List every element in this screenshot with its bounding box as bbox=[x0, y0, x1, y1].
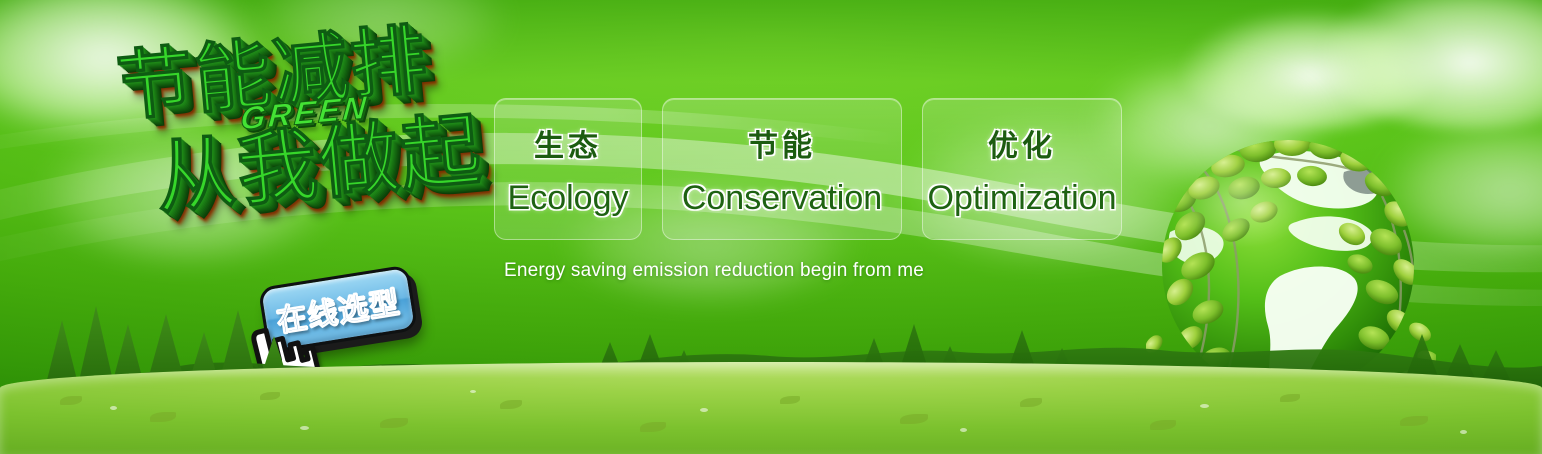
feature-card-list: 生态 Ecology 节能 Conservation 优化 Optimizati… bbox=[494, 98, 1122, 240]
banner-tagline: Energy saving emission reduction begin f… bbox=[504, 260, 924, 282]
feature-card-en-label: Conservation bbox=[682, 179, 882, 218]
feature-card-cn-label: 优化 bbox=[988, 121, 1056, 165]
feature-card-optimization[interactable]: 优化 Optimization bbox=[922, 98, 1122, 240]
grass-field-icon bbox=[0, 362, 1542, 454]
feature-card-ecology[interactable]: 生态 Ecology bbox=[494, 98, 642, 240]
feature-card-en-label: Ecology bbox=[508, 179, 629, 218]
feature-card-cn-label: 生态 bbox=[534, 121, 602, 165]
feature-card-en-label: Optimization bbox=[928, 179, 1117, 218]
feature-card-cn-label: 节能 bbox=[748, 121, 816, 165]
feature-card-conservation[interactable]: 节能 Conservation bbox=[662, 98, 902, 240]
eco-hero-banner: 节能减排 GREEN 从我做起 在线选型 生态 Ecology 节能 Conse… bbox=[0, 0, 1542, 454]
